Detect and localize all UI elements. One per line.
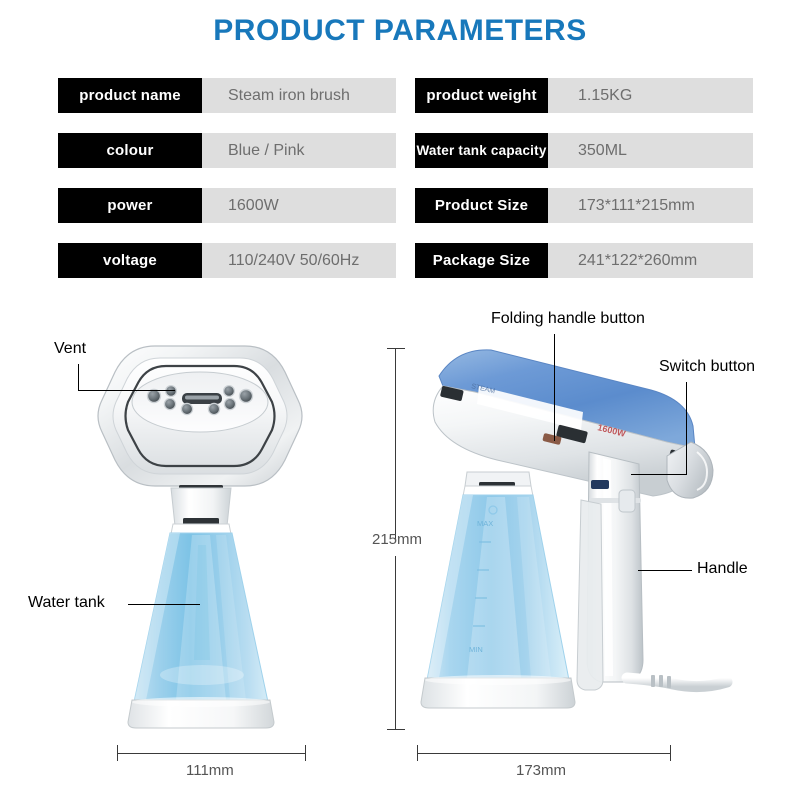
callout-leader-handle (638, 570, 692, 571)
right-product-illustration: 1600W STEAM (405, 330, 745, 750)
callout-leader-water-tank (128, 604, 200, 605)
table-row: Package Size 241*122*260mm (415, 243, 753, 278)
spec-value: 173*111*215mm (548, 188, 753, 223)
callout-label-handle: Handle (697, 560, 748, 578)
handle-rear-leg (577, 500, 603, 690)
spec-value: 1.15KG (548, 78, 753, 113)
spec-key: Product Size (415, 188, 548, 223)
steamer-side-view-graphic: 1600W STEAM (405, 330, 745, 750)
dimension-line-right-width (417, 753, 670, 754)
spec-key: voltage (58, 243, 202, 278)
dimension-tick-right-start (417, 745, 418, 761)
table-row: power 1600W (58, 188, 396, 223)
handle-switch-indicator[interactable] (591, 480, 609, 489)
tank-min-marking: MIN (469, 645, 483, 654)
spec-table-right: product weight 1.15KG Water tank capacit… (415, 78, 753, 278)
dimension-tick-height-top (387, 348, 405, 349)
table-row: colour Blue / Pink (58, 133, 396, 168)
callout-leader-vent-horizontal (78, 390, 175, 391)
callout-label-water-tank: Water tank (28, 594, 105, 612)
callout-leader-switch-button-vertical (686, 382, 687, 474)
power-cord (627, 678, 727, 687)
callout-leader-vent-vertical (78, 364, 79, 390)
table-row: Product Size 173*111*215mm (415, 188, 753, 223)
spec-key: Water tank capacity (415, 133, 548, 168)
spec-value: Steam iron brush (202, 78, 396, 113)
product-parameters-page: PRODUCT PARAMETERS product name Steam ir… (0, 0, 800, 800)
table-row: product weight 1.15KG (415, 78, 753, 113)
callout-leader-folding-handle-button (554, 334, 555, 441)
table-row: product name Steam iron brush (58, 78, 396, 113)
cord-strain-relief (651, 675, 671, 688)
spec-value: 241*122*260mm (548, 243, 753, 278)
callout-label-vent: Vent (54, 340, 86, 358)
dimension-tick-right-end (670, 745, 671, 761)
spec-key: colour (58, 133, 202, 168)
spec-value: 110/240V 50/60Hz (202, 243, 396, 278)
dimension-label-173mm: 173mm (516, 762, 566, 779)
tank-internal-base (160, 665, 244, 685)
callout-leader-switch-button-horizontal (631, 474, 687, 475)
dimension-line-height-lower (395, 556, 396, 729)
spec-value: 350ML (548, 133, 753, 168)
table-row: voltage 110/240V 50/60Hz (58, 243, 396, 278)
spec-key: Package Size (415, 243, 548, 278)
spec-value: 1600W (202, 188, 396, 223)
dimension-tick-height-bottom (387, 729, 405, 730)
spec-key: power (58, 188, 202, 223)
callout-label-folding-handle-button: Folding handle button (491, 310, 645, 328)
spec-table-left: product name Steam iron brush colour Blu… (58, 78, 396, 278)
switch-button[interactable] (619, 490, 635, 512)
table-row: Water tank capacity 350ML (415, 133, 753, 168)
dimension-label-215mm: 215mm (372, 531, 422, 548)
spec-key: product weight (415, 78, 548, 113)
steamer-front-view-graphic (40, 330, 370, 750)
tank-base-rim (132, 697, 270, 707)
dimension-label-111mm: 111mm (186, 762, 234, 779)
steam-slot-highlight (185, 396, 219, 400)
dimension-line-height-upper (395, 348, 396, 540)
spec-value: Blue / Pink (202, 133, 396, 168)
callout-label-switch-button: Switch button (659, 358, 755, 376)
tank-base-rim-right (425, 675, 571, 685)
spec-key: product name (58, 78, 202, 113)
tank-max-marking: MAX (477, 519, 493, 528)
dimension-tick-left-end (305, 745, 306, 761)
page-title: PRODUCT PARAMETERS (0, 14, 800, 48)
dimension-line-left-width (117, 753, 305, 754)
dimension-tick-left-start (117, 745, 118, 761)
left-product-illustration (40, 330, 370, 750)
